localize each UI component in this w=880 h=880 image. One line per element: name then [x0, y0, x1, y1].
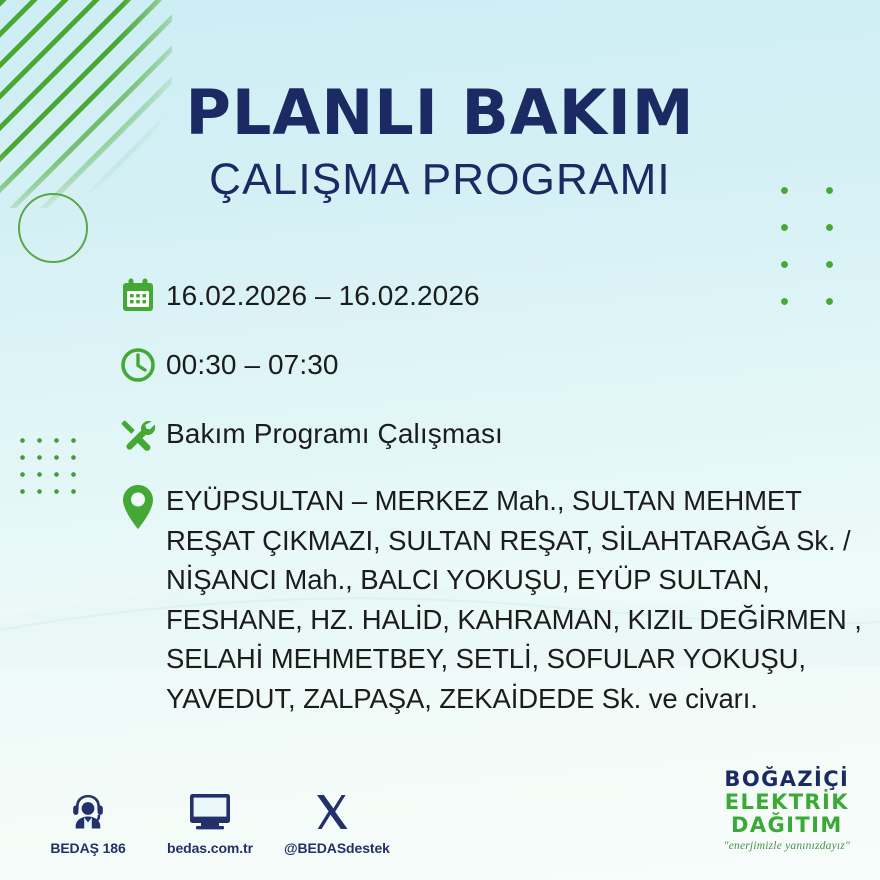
page-subtitle: ÇALIŞMA PROGRAMI — [0, 158, 880, 202]
page-title: PLANLI BAKIM — [0, 82, 880, 144]
contact-phone-label: BEDAŞ 186 — [50, 840, 125, 856]
brand-tagline: "enerjimizle yanınızdayız" — [724, 841, 850, 853]
tools-icon — [118, 410, 166, 458]
brand-line-2: ELEKTRİK — [724, 792, 850, 813]
monitor-icon — [162, 784, 258, 840]
info-row-date: 16.02.2026 – 16.02.2026 — [118, 272, 878, 320]
clock-icon — [118, 341, 166, 389]
time-range-text: 00:30 – 07:30 — [166, 341, 878, 383]
x-twitter-icon — [284, 784, 380, 840]
date-range-text: 16.02.2026 – 16.02.2026 — [166, 272, 878, 314]
contact-x-label: @BEDASdestek — [284, 840, 390, 856]
brand-line-3: DAĞITIM — [724, 815, 850, 836]
info-row-location: EYÜPSULTAN – MERKEZ Mah., SULTAN MEHMET … — [118, 479, 878, 719]
contact-website-label: bedas.com.tr — [167, 840, 253, 856]
contact-list: BEDAŞ 186 bedas.com.tr — [40, 784, 380, 858]
poster-header: PLANLI BAKIM ÇALIŞMA PROGRAMI — [0, 82, 880, 202]
info-block: 16.02.2026 – 16.02.2026 00:30 – 07:30 — [118, 272, 878, 719]
info-row-time: 00:30 – 07:30 — [118, 341, 878, 389]
location-text: EYÜPSULTAN – MERKEZ Mah., SULTAN MEHMET … — [166, 479, 878, 719]
info-row-work-type: Bakım Programı Çalışması — [118, 410, 878, 458]
work-type-text: Bakım Programı Çalışması — [166, 410, 878, 452]
contact-phone[interactable]: BEDAŞ 186 — [40, 784, 136, 858]
location-pin-icon — [118, 479, 166, 531]
poster-footer: BEDAŞ 186 bedas.com.tr — [0, 756, 880, 866]
contact-website[interactable]: bedas.com.tr — [162, 784, 258, 858]
brand-logo: BOĞAZİÇİ ELEKTRİK DAĞITIM "enerjimizle y… — [724, 769, 850, 853]
circle-outline-decoration — [18, 193, 88, 263]
dot-grid-left-decoration — [14, 432, 76, 502]
brand-line-1: BOĞAZİÇİ — [724, 769, 850, 790]
calendar-icon — [118, 272, 166, 320]
poster-root: PLANLI BAKIM ÇALIŞMA PROGRAMI — [0, 0, 880, 880]
contact-x-social[interactable]: @BEDASdestek — [284, 784, 380, 858]
headset-agent-icon — [40, 784, 136, 840]
